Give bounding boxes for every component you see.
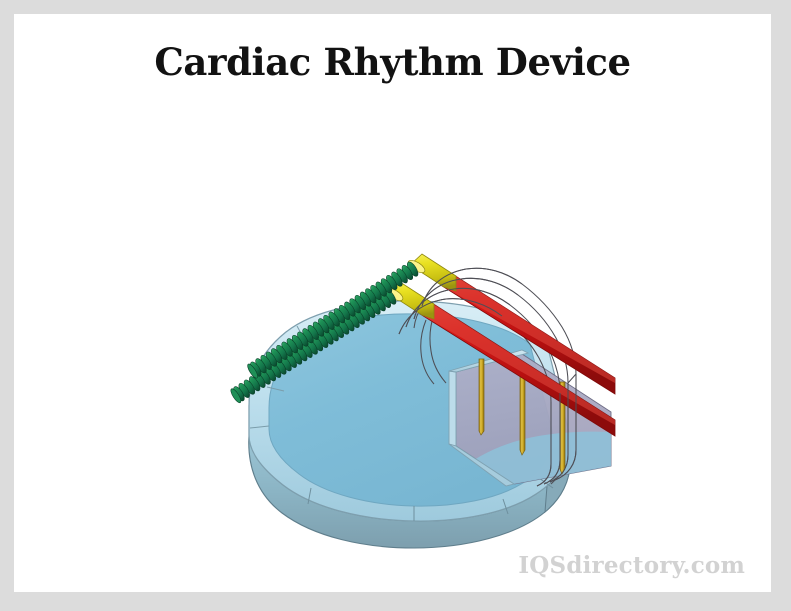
image-canvas: Cardiac Rhythm Device — [14, 14, 771, 592]
cardiac-rhythm-device-figure — [14, 14, 771, 592]
watermark: IQSdirectory.com — [518, 552, 745, 579]
connector-pin-1 — [479, 359, 484, 435]
header-left-face — [449, 371, 456, 446]
illustration-page: Cardiac Rhythm Device — [0, 0, 791, 611]
connector-pin-2 — [520, 370, 525, 455]
